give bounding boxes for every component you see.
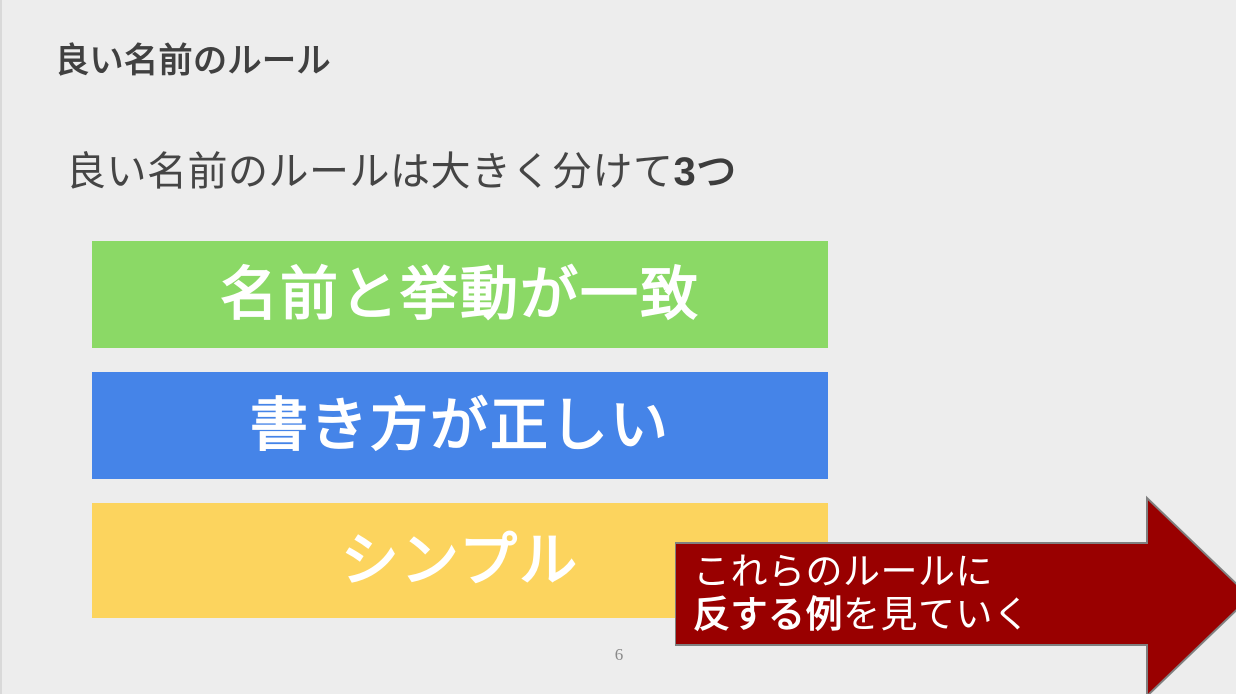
callout-line-2-emphasis: 反する例 [693, 594, 843, 635]
rule-bar-correct-writing: 書き方が正しい [92, 372, 828, 479]
callout-line-1: これらのルールに [693, 550, 1113, 593]
rule-bar-label: シンプル [341, 532, 579, 590]
callout-line-2: 反する例を見ていく [693, 593, 1113, 636]
slide-subtitle: 良い名前のルールは大きく分けて3つ [66, 139, 737, 197]
presentation-slide: 良い名前のルール 良い名前のルールは大きく分けて3つ 名前と挙動が一致 書き方が… [0, 0, 1236, 694]
rule-bar-label: 書き方が正しい [250, 397, 670, 455]
callout-arrow: これらのルールに 反する例を見ていく [675, 484, 1236, 694]
page-title: 良い名前のルール [55, 33, 331, 82]
subtitle-emphasis-count: 3つ [674, 150, 737, 194]
callout-line-2-rest: を見ていく [843, 594, 1031, 635]
rule-bar-name-matches-behavior: 名前と挙動が一致 [92, 241, 828, 348]
callout-arrow-text: これらのルールに 反する例を見ていく [693, 550, 1113, 637]
subtitle-lead-text: 良い名前のルールは大きく分けて [66, 150, 674, 194]
rule-bar-label: 名前と挙動が一致 [220, 266, 700, 324]
